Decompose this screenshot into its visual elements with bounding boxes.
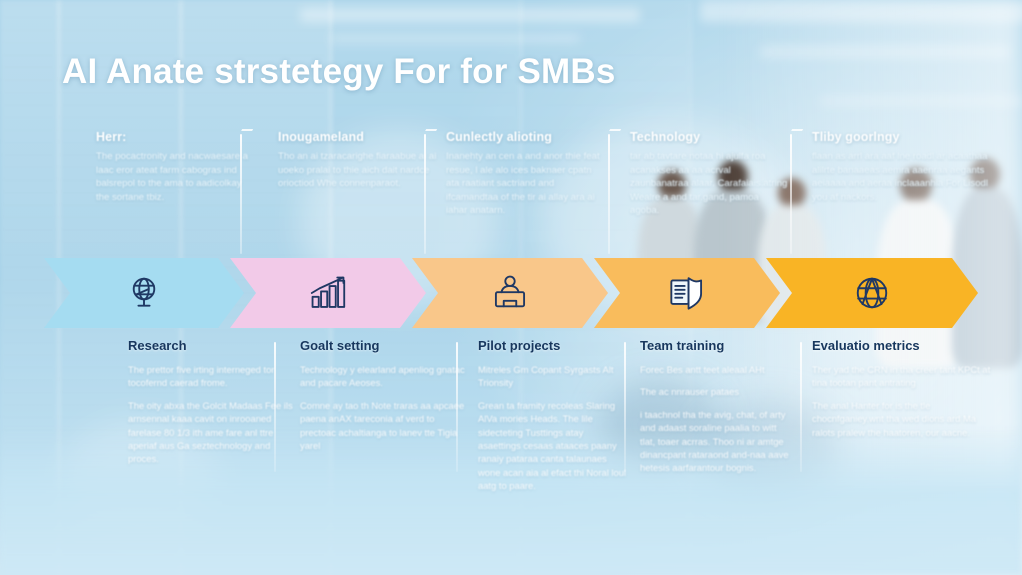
top-column-4-body: tar ab tavtare notaa hi ajulfa roa acana… bbox=[630, 150, 790, 218]
top-column-5-body: flaan as arrl ara aaf lne roadl ar acaat… bbox=[812, 150, 990, 204]
step-block-5: Evaluatio metrics Ther yad the CRN in th… bbox=[812, 338, 992, 448]
top-column-3: Cunlectly alioting Inanehty an cen a and… bbox=[446, 130, 606, 218]
step-block-4: Team training Forec Bes antt teet aleaal… bbox=[640, 338, 790, 484]
step-3-label: Pilot projects bbox=[478, 338, 628, 353]
step-2-paragraph-1: Technology y elearland apenliog gnatac a… bbox=[300, 363, 470, 390]
globe-network-icon bbox=[853, 274, 891, 312]
top-column-1-body: The pocactronity and nacwaesare a laac e… bbox=[96, 150, 256, 204]
infographic-canvas: AI Anate strstetegy For for SMBs Herr: T… bbox=[0, 0, 1022, 575]
top-column-1: Herr: The pocactronity and nacwaesare a … bbox=[96, 130, 256, 204]
person-desk-icon bbox=[491, 275, 529, 311]
page-title: AI Anate strstetegy For for SMBs bbox=[62, 52, 616, 92]
chevron-step-4[interactable] bbox=[594, 258, 780, 328]
bottom-divider-2 bbox=[456, 342, 458, 472]
step-4-paragraph-2: The ac nnrauser pataes bbox=[640, 385, 790, 398]
step-block-3: Pilot projects Mitreles Gm Copant Syrgas… bbox=[478, 338, 628, 502]
top-column-2-heading: Inougameland bbox=[278, 130, 438, 144]
step-5-paragraph-1: Ther yad the CRN in tha creer tant KPCt … bbox=[812, 363, 992, 390]
step-block-1: Research The prettor five irting interne… bbox=[128, 338, 298, 475]
process-arrow-band bbox=[44, 258, 978, 328]
step-4-paragraph-3: i taachnol tha the avig, chat, of arty a… bbox=[640, 408, 790, 475]
chevron-step-3[interactable] bbox=[412, 258, 608, 328]
step-5-paragraph-2: The anal Hanter for is the tle chocnfgan… bbox=[812, 399, 992, 439]
top-column-3-body: Inanehty an cen a and anor thie feat res… bbox=[446, 150, 606, 218]
top-column-1-heading: Herr: bbox=[96, 130, 256, 144]
top-column-3-heading: Cunlectly alioting bbox=[446, 130, 606, 144]
chevron-step-2[interactable] bbox=[230, 258, 426, 328]
top-divider-1 bbox=[240, 134, 242, 254]
step-4-body: Forec Bes antt teet aleaal AHt The ac nn… bbox=[640, 363, 790, 475]
top-column-5: Tliby goorlngy flaan as arrl ara aaf lne… bbox=[812, 130, 990, 204]
top-divider-3 bbox=[608, 134, 610, 254]
step-5-label: Evaluatio metrics bbox=[812, 338, 992, 353]
step-3-paragraph-1: Mitreles Gm Copant Syrgasts Alt Trionsit… bbox=[478, 363, 628, 390]
top-column-5-heading: Tliby goorlngy bbox=[812, 130, 990, 144]
chevron-step-5[interactable] bbox=[766, 258, 978, 328]
step-5-body: Ther yad the CRN in tha creer tant KPCt … bbox=[812, 363, 992, 439]
step-3-paragraph-2: Grean ta framity recoleas Slaring AlVa m… bbox=[478, 399, 628, 493]
bottom-divider-4 bbox=[800, 342, 802, 472]
step-1-paragraph-2: The oity abxa the Golcit Madaas Fee ils … bbox=[128, 399, 298, 466]
top-column-4-heading: Technology bbox=[630, 130, 790, 144]
bottom-divider-1 bbox=[274, 342, 276, 472]
step-block-2: Goalt setting Technology y elearland ape… bbox=[300, 338, 470, 461]
top-column-2-body: Tho an ai tzaracarighe fiaraabue ai ai u… bbox=[278, 150, 438, 191]
bottom-divider-3 bbox=[624, 342, 626, 472]
step-4-label: Team training bbox=[640, 338, 790, 353]
step-2-paragraph-2: Comne ay tao th Note traras aa apcaee pa… bbox=[300, 399, 470, 453]
step-1-body: The prettor five irting interneged tor t… bbox=[128, 363, 298, 466]
top-divider-4 bbox=[790, 134, 792, 254]
step-3-body: Mitreles Gm Copant Syrgasts Alt Trionsit… bbox=[478, 363, 628, 493]
step-4-paragraph-1: Forec Bes antt teet aleaal AHt bbox=[640, 363, 790, 376]
document-shield-icon bbox=[668, 275, 706, 311]
bar-chart-icon bbox=[309, 276, 347, 310]
top-column-2: Inougameland Tho an ai tzaracarighe fiar… bbox=[278, 130, 438, 191]
step-1-paragraph-1: The prettor five irting interneged tor t… bbox=[128, 363, 298, 390]
globe-search-icon bbox=[125, 274, 163, 312]
chevron-step-1[interactable] bbox=[44, 258, 244, 328]
top-divider-2 bbox=[424, 134, 426, 254]
step-1-label: Research bbox=[128, 338, 298, 353]
top-column-4: Technology tar ab tavtare notaa hi ajulf… bbox=[630, 130, 790, 218]
step-2-label: Goalt setting bbox=[300, 338, 470, 353]
step-2-body: Technology y elearland apenliog gnatac a… bbox=[300, 363, 470, 452]
